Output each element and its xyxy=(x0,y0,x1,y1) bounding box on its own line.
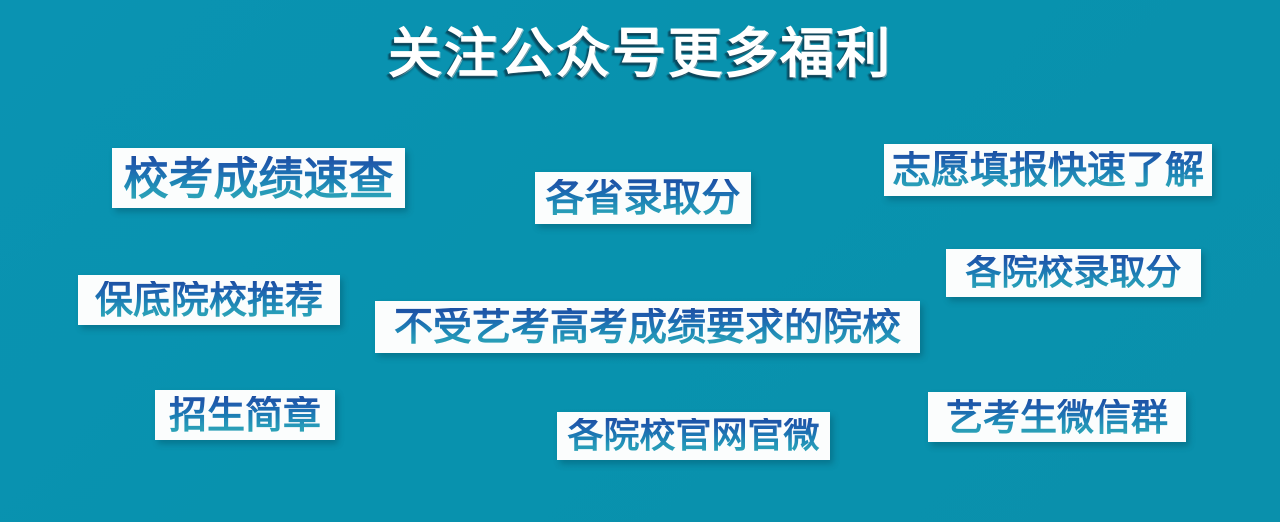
tag-label: 保底院校推荐 xyxy=(95,281,323,319)
tag-chip-zhiyuan-tianbao-kuaisu-liaojie[interactable]: 志愿填报快速了解 xyxy=(884,144,1212,196)
page-title: 关注公众号更多福利 xyxy=(0,26,1280,83)
tag-chip-bushou-yikao-gaokao-chengji-yaoqiu-de-yuanxiao[interactable]: 不受艺考高考成绩要求的院校 xyxy=(375,301,920,353)
tag-label: 校考成绩速查 xyxy=(123,156,393,201)
tag-label: 各院校录取分 xyxy=(965,255,1181,291)
tag-chip-yikaosheng-weixinqun[interactable]: 艺考生微信群 xyxy=(928,392,1186,442)
tag-label: 不受艺考高考成绩要求的院校 xyxy=(394,308,901,347)
tag-label: 艺考生微信群 xyxy=(946,399,1168,436)
tag-chip-geyuanxiao-guanwang-guanwei[interactable]: 各院校官网官微 xyxy=(557,412,830,460)
tag-chip-zhaosheng-jianzhang[interactable]: 招生简章 xyxy=(155,390,335,440)
tag-chip-xiaokao-chengji-sucha[interactable]: 校考成绩速查 xyxy=(112,148,405,208)
tag-chip-gesheng-luqufen[interactable]: 各省录取分 xyxy=(535,172,751,224)
tag-label: 志愿填报快速了解 xyxy=(892,151,1204,190)
tag-chip-baodi-yuanxiao-tuijian[interactable]: 保底院校推荐 xyxy=(78,275,340,325)
tag-chip-geyuanxiao-luqufen[interactable]: 各院校录取分 xyxy=(946,249,1201,297)
tag-label: 各院校官网官微 xyxy=(567,418,819,454)
tag-label: 招生简章 xyxy=(169,396,321,434)
tag-label: 各省录取分 xyxy=(545,179,740,218)
promo-poster: 关注公众号更多福利 校考成绩速查 各省录取分 志愿填报快速了解 各院校录取分 保… xyxy=(0,0,1280,522)
